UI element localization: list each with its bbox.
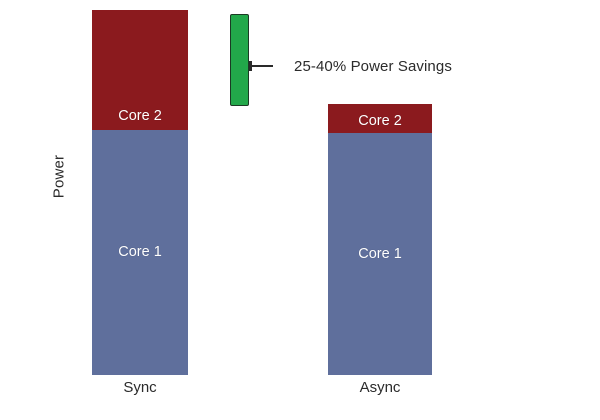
bar-async-segment-core2[interactable]: Core 2 [328, 104, 432, 133]
chart-canvas: Power Core 2 Core 1 Sync Core 2 Core 1 A… [0, 0, 600, 420]
category-label-sync: Sync [92, 379, 188, 396]
bar-sync-segment-core2[interactable]: Core 2 [92, 10, 188, 130]
category-label-async: Async [328, 379, 432, 396]
power-savings-indicator-bar[interactable] [230, 14, 249, 106]
bar-sync-segment-core1-label: Core 1 [118, 245, 162, 260]
bar-sync-segment-core1[interactable]: Core 1 [92, 130, 188, 375]
bar-async-segment-core2-label: Core 2 [358, 114, 402, 134]
y-axis-label: Power [51, 132, 68, 222]
bar-sync-segment-core2-label: Core 2 [118, 109, 162, 131]
power-savings-label: 25-40% Power Savings [294, 58, 452, 75]
bar-async-segment-core1-label: Core 1 [358, 247, 402, 262]
bar-async-segment-core1[interactable]: Core 1 [328, 133, 432, 375]
bar-async[interactable]: Core 2 Core 1 [328, 104, 432, 375]
power-savings-leader-line [249, 65, 273, 67]
bar-sync[interactable]: Core 2 Core 1 [92, 10, 188, 375]
